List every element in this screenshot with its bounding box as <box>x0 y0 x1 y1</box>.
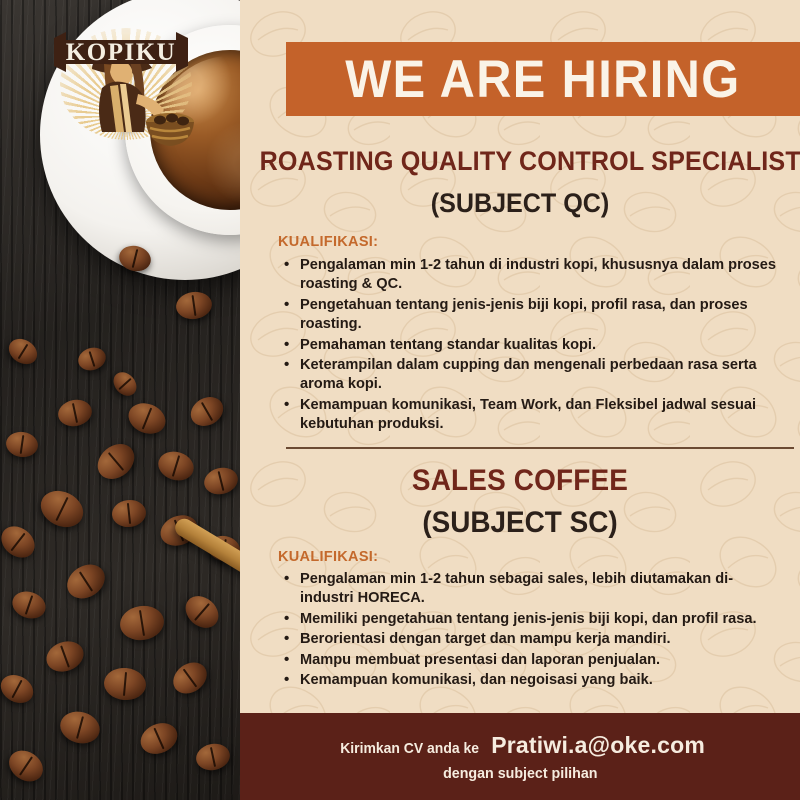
qualifications-label-qc: KUALIFIKASI: <box>278 234 378 250</box>
section-divider <box>286 447 794 449</box>
list-item: Kemampuan komunikasi, Team Work, dan Fle… <box>282 396 782 435</box>
job-subject-qc: (SUBJECT QC) <box>260 188 781 219</box>
job-subject-sales: (SUBJECT SC) <box>260 506 781 540</box>
list-item: Pengalaman min 1-2 tahun di industri kop… <box>282 256 782 295</box>
logo-ribbon: KOPIKU <box>52 28 190 76</box>
list-item: Keterampilan dalam cupping dan mengenali… <box>282 356 782 395</box>
contact-email[interactable]: Pratiwi.a@oke.com <box>491 732 705 759</box>
list-item: Pengalaman min 1-2 tahun sebagai sales, … <box>282 570 782 609</box>
list-item: Memiliki pengetahuan tentang jenis-jenis… <box>282 610 782 629</box>
list-item: Pengetahuan tentang jenis-jenis biji kop… <box>282 296 782 335</box>
contact-footer: Kirimkan CV anda ke Pratiwi.a@oke.com de… <box>240 713 800 800</box>
hiring-headline: WE ARE HIRING <box>345 49 740 110</box>
list-item: Mampu membuat presentasi dan laporan pen… <box>282 651 782 670</box>
job-title-qc: ROASTING QUALITY CONTROL SPECIALIST <box>260 146 781 177</box>
job-title-sales: SALES COFFEE <box>260 464 781 498</box>
list-item: Berorientasi dengan target dan mampu ker… <box>282 630 782 649</box>
qualifications-list-qc: Pengalaman min 1-2 tahun di industri kop… <box>282 256 782 436</box>
list-item: Pemahaman tentang standar kualitas kopi. <box>282 336 782 355</box>
poster-content: WE ARE HIRING ROASTING QUALITY CONTROL S… <box>240 0 800 800</box>
cta-prefix: Kirimkan CV anda ke <box>340 740 479 757</box>
qualifications-list-sales: Pengalaman min 1-2 tahun sebagai sales, … <box>282 570 782 691</box>
list-item: Kemampuan komunikasi, dan negoisasi yang… <box>282 671 782 690</box>
hiring-banner: WE ARE HIRING <box>286 42 800 116</box>
brand-logo: KOPIKU <box>52 28 202 173</box>
subject-note: dengan subject pilihan <box>443 765 597 782</box>
hiring-poster: KOPIKU WE ARE HIRING ROASTING QUALITY CO… <box>0 0 800 800</box>
coffee-photo-panel: KOPIKU <box>0 0 240 800</box>
contact-line: Kirimkan CV anda ke Pratiwi.a@oke.com <box>335 732 705 759</box>
logo-brand-text: KOPIKU <box>66 39 176 66</box>
qualifications-label-sales: KUALIFIKASI: <box>278 549 378 565</box>
